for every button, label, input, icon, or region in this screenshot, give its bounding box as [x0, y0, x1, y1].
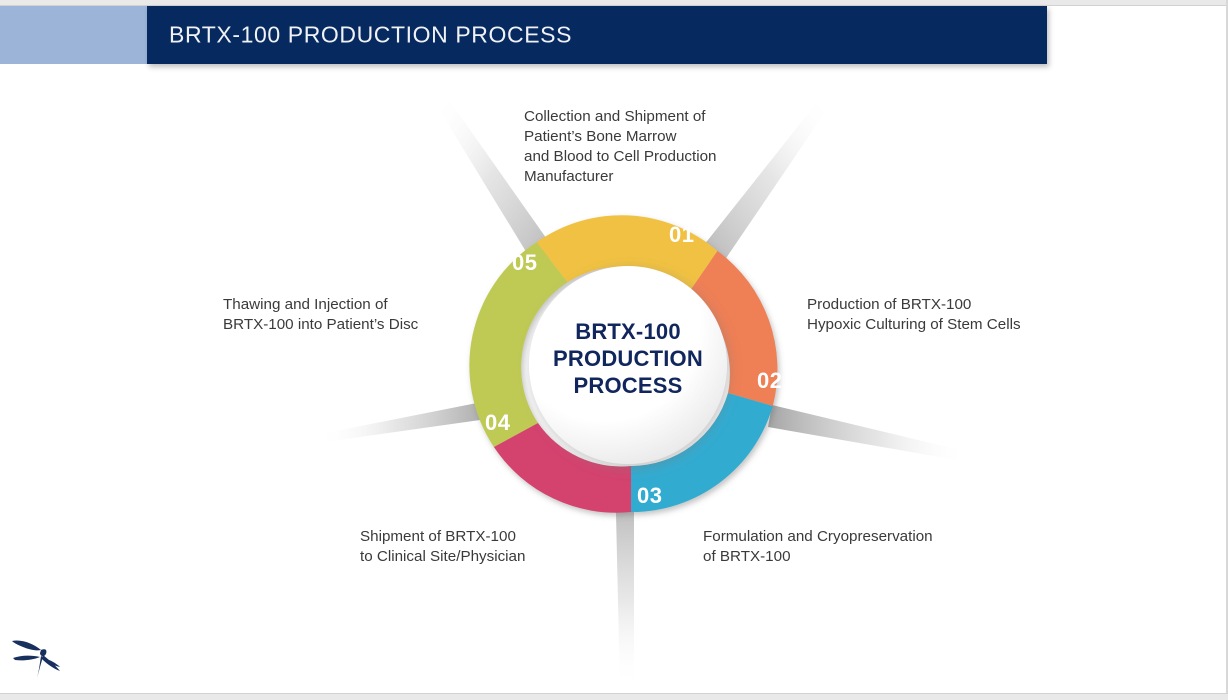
slide-window: BRTX-100 PRODUCTION PROCESS — [0, 0, 1228, 700]
dragonfly-logo — [10, 634, 72, 680]
connector-ray-02 — [768, 405, 968, 462]
step-label-03: Formulation and Cryopreservation of BRTX… — [703, 527, 933, 567]
segment-number-04: 04 — [485, 410, 510, 436]
segment-number-01: 01 — [669, 222, 694, 248]
step-label-01: Collection and Shipment of Patient’s Bon… — [524, 107, 717, 187]
step-label-04: Shipment of BRTX-100 to Clinical Site/Ph… — [360, 527, 525, 567]
segment-number-05: 05 — [512, 250, 537, 276]
connector-ray-04 — [318, 400, 492, 443]
step-label-02: Production of BRTX-100 Hypoxic Culturing… — [807, 295, 1021, 335]
segment-number-03: 03 — [637, 483, 662, 509]
center-title: BRTX-100 PRODUCTION PROCESS — [518, 318, 738, 399]
segment-number-02: 02 — [757, 368, 782, 394]
connector-ray-01 — [700, 101, 828, 270]
step-label-05: Thawing and Injection of BRTX-100 into P… — [223, 295, 418, 335]
